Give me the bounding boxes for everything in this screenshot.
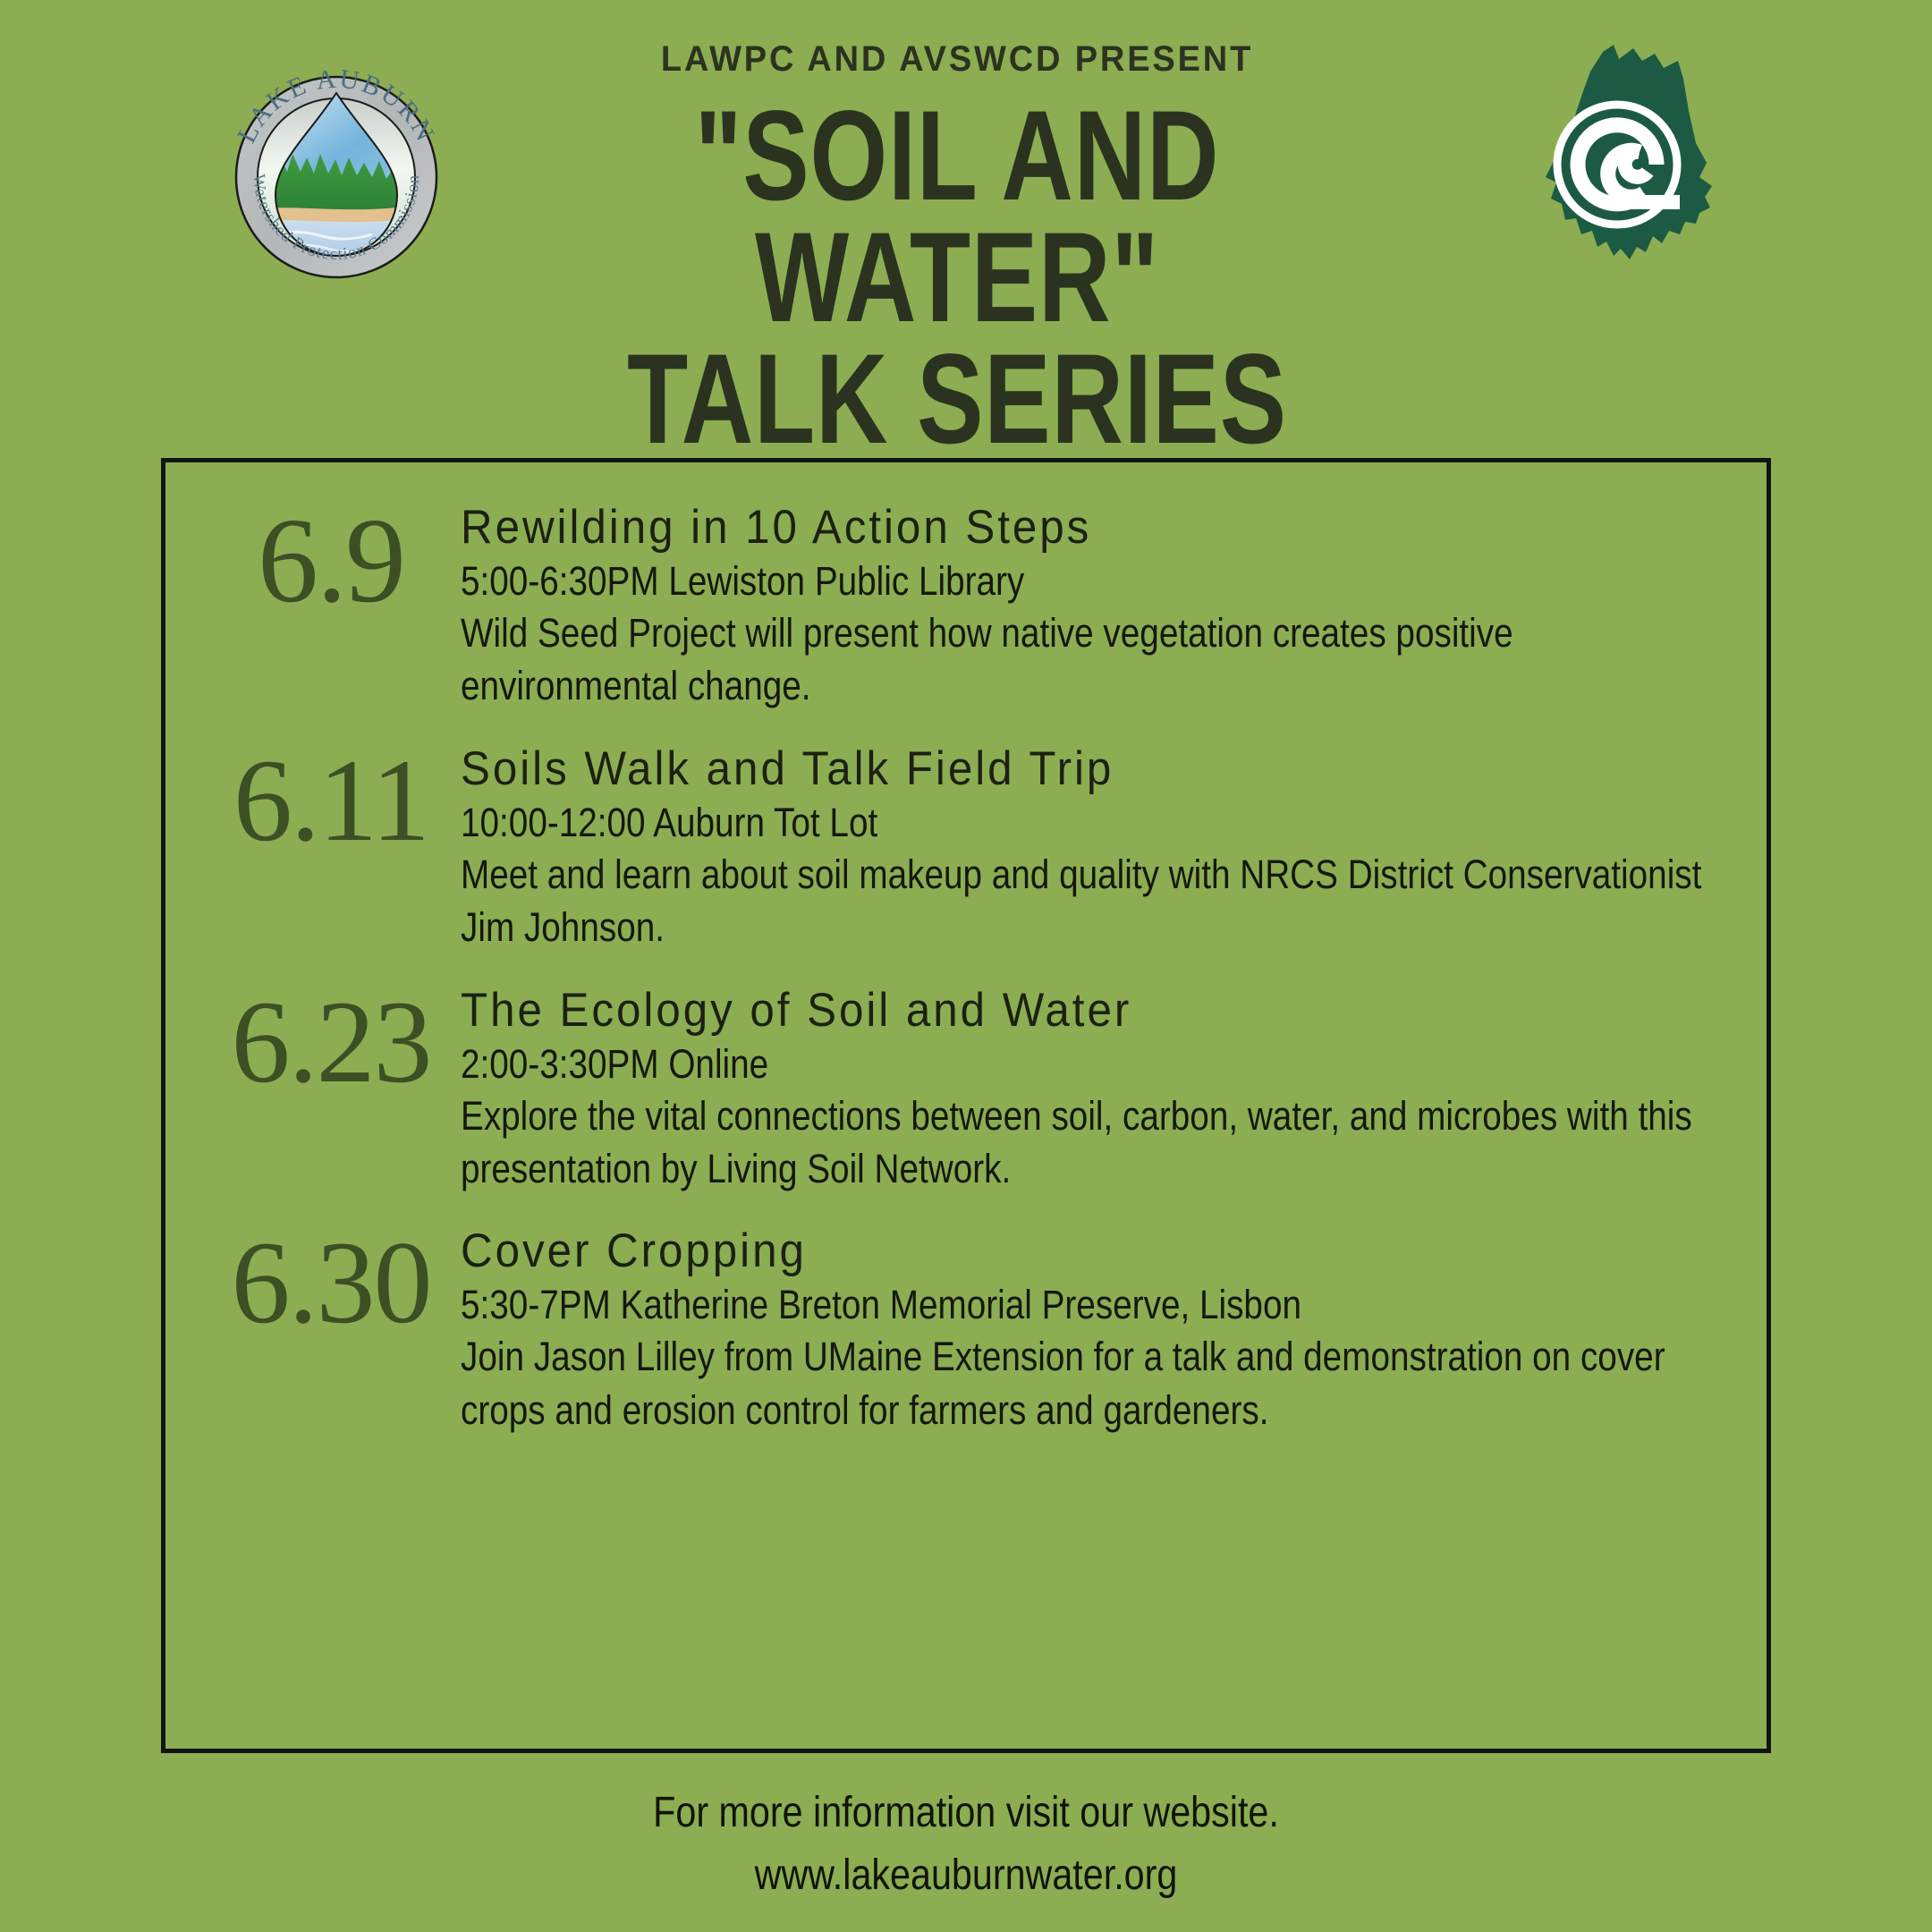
event-time-location: 2:00-3:30PM Online — [461, 1041, 1553, 1088]
events-list: 6.9 Rewilding in 10 Action Steps 5:00-6:… — [165, 462, 1767, 1436]
event-title: The Ecology of Soil and Water — [461, 983, 1642, 1038]
event-details: Cover Cropping 5:30-7PM Katherine Breton… — [461, 1218, 1731, 1436]
event-row: 6.23 The Ecology of Soil and Water 2:00-… — [201, 978, 1731, 1196]
presenters-line: LAWPC AND AVSWCD PRESENT — [413, 39, 1501, 80]
page-title-line1: "SOIL AND WATER" — [511, 96, 1403, 339]
avswcd-maine-logo — [1521, 29, 1735, 268]
event-date: 6.30 — [201, 1218, 461, 1342]
event-time-location: 5:30-7PM Katherine Breton Memorial Prese… — [461, 1282, 1553, 1328]
event-time-location: 10:00-12:00 Auburn Tot Lot — [461, 800, 1553, 846]
event-title: Cover Cropping — [461, 1224, 1642, 1278]
footer-website-url[interactable]: www.lakeauburnwater.org — [135, 1844, 1797, 1907]
event-details: Soils Walk and Talk Field Trip 10:00-12:… — [461, 736, 1731, 954]
poster-header: LAKE AUBURN Watershed Protection Commiss… — [0, 0, 1932, 420]
event-row: 6.9 Rewilding in 10 Action Steps 5:00-6:… — [201, 495, 1731, 713]
events-panel: 6.9 Rewilding in 10 Action Steps 5:00-6:… — [161, 458, 1771, 1753]
event-description: Explore the vital connections between so… — [461, 1089, 1728, 1196]
event-description: Wild Seed Project will present how nativ… — [461, 606, 1728, 713]
event-details: The Ecology of Soil and Water 2:00-3:30P… — [461, 978, 1731, 1196]
event-date: 6.23 — [201, 978, 461, 1101]
event-row: 6.30 Cover Cropping 5:30-7PM Katherine B… — [201, 1218, 1731, 1436]
poster-footer: For more information visit our website. … — [0, 1782, 1932, 1906]
event-date: 6.9 — [201, 495, 461, 622]
footer-info-line: For more information visit our website. — [135, 1782, 1797, 1844]
event-description: Join Jason Lilley from UMaine Extension … — [461, 1330, 1728, 1436]
event-details: Rewilding in 10 Action Steps 5:00-6:30PM… — [461, 495, 1731, 713]
event-title: Soils Walk and Talk Field Trip — [461, 741, 1642, 796]
event-description: Meet and learn about soil makeup and qua… — [461, 848, 1728, 954]
avswcd-spiral-icon — [1557, 105, 1680, 225]
page-title-line2: TALK SERIES — [511, 339, 1403, 461]
event-title: Rewilding in 10 Action Steps — [461, 500, 1642, 555]
event-date: 6.11 — [201, 736, 461, 860]
event-time-location: 5:00-6:30PM Lewiston Public Library — [461, 558, 1553, 605]
event-row: 6.11 Soils Walk and Talk Field Trip 10:0… — [201, 736, 1731, 954]
header-text-block: LAWPC AND AVSWCD PRESENT "SOIL AND WATER… — [385, 39, 1529, 461]
